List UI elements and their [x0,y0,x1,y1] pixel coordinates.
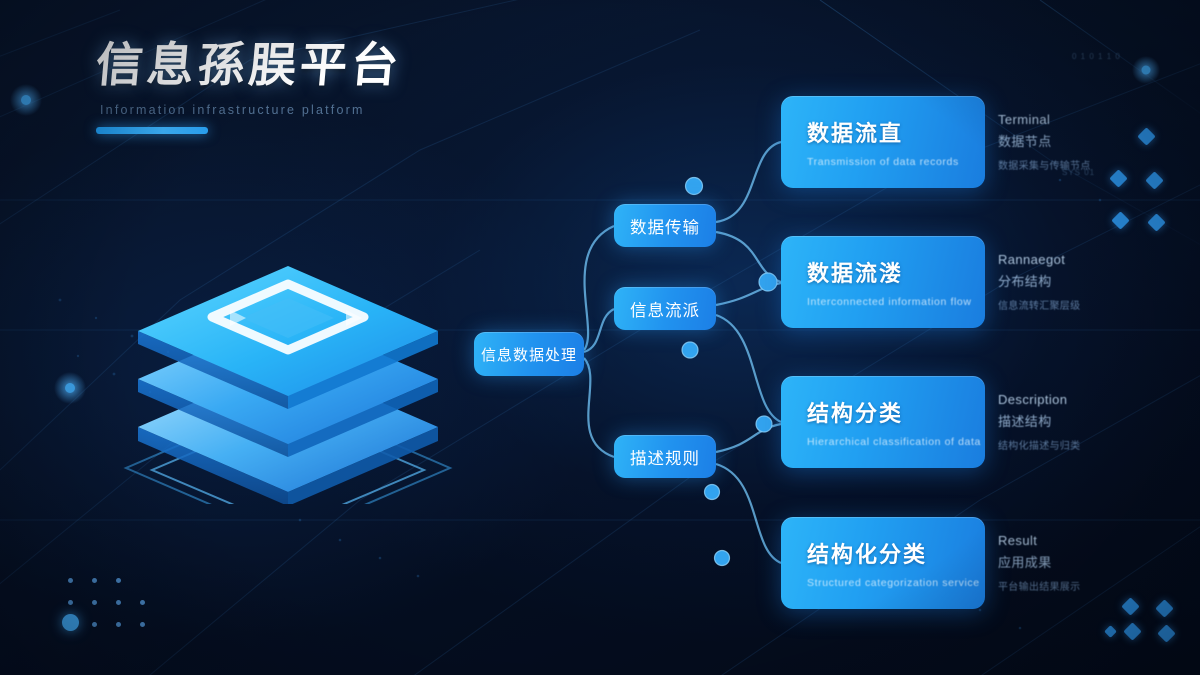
card-subtitle: Hierarchical classification of data [807,436,985,448]
page-title: 信息孫脵平台 [94,42,404,89]
slide-canvas: 信息孫脵平台 Information infrastructure platfo… [0,0,1200,675]
isometric-layer-stack [118,222,458,504]
card-annotation-2: Rannaegot 分布结构 信息流转汇聚层级 [998,252,1126,312]
page-subtitle: Information infrastructure platform [100,103,402,117]
diamond-icon [1104,625,1117,638]
mindmap-branch-node-2[interactable]: 信息流派 [614,287,716,330]
card-title: 结构化分类 [807,537,985,569]
annotation-line-2: 分布结构 [998,271,1126,290]
annotation-line-1: Rannaegot [998,252,1126,267]
annotation-line-3: 平台输出结果展示 [998,578,1126,593]
card-annotation-4: Result 应用成果 平台输出结果展示 [998,533,1126,593]
feature-card-2[interactable]: 数据流溇 Interconnected information flow [781,236,985,328]
card-subtitle: Interconnected information flow [807,296,985,308]
connector-dot [682,342,698,358]
annotation-line-1: Result [998,533,1126,548]
annotation-line-3: 结构化描述与归类 [998,437,1126,452]
diamond-icon [1109,169,1127,187]
connector-dot [686,178,703,195]
diamond-icon [1157,624,1175,642]
diamond-icon [1147,213,1165,231]
feature-card-4[interactable]: 结构化分类 Structured categorization service [781,517,985,609]
card-title: 数据流溇 [807,256,985,288]
diamond-icon [1121,597,1139,615]
connector-dot [759,273,777,291]
feature-card-1[interactable]: 数据流直 Transmission of data records [781,96,985,188]
annotation-line-2: 描述结构 [998,411,1126,430]
card-subtitle: Transmission of data records [807,156,985,168]
annotation-line-3: 信息流转汇聚层级 [998,297,1126,312]
connector-dot [756,416,772,432]
diamond-icon [1111,211,1129,229]
title-underline [96,127,208,134]
mindmap-branch-node-3[interactable]: 描述规则 [614,435,716,478]
annotation-line-2: 数据节点 [998,131,1126,150]
card-annotation-3: Description 描述结构 结构化描述与归类 [998,392,1126,452]
corner-note-top-right: 0 1 0 1 1 0 [1072,52,1121,61]
dot-grid-accent [62,614,79,631]
mindmap-branch-node-1[interactable]: 数据传输 [614,204,716,247]
diamond-icon [1145,171,1163,189]
title-block: 信息孫脵平台 Information infrastructure platfo… [96,42,402,134]
annotation-line-2: 应用成果 [998,552,1126,571]
card-subtitle: Structured categorization service [807,577,985,589]
diamond-icon [1123,622,1141,640]
corner-note-side: SYS 01 [1062,168,1095,177]
mindmap-root-node[interactable]: 信息数据处理 [474,332,584,376]
feature-card-3[interactable]: 结构分类 Hierarchical classification of data [781,376,985,468]
card-title: 数据流直 [807,116,985,148]
annotation-line-1: Terminal [998,112,1126,127]
card-title: 结构分类 [807,396,985,428]
connector-dot [715,551,730,566]
annotation-line-1: Description [998,392,1126,407]
connector-dot [705,485,720,500]
diamond-icon [1137,127,1155,145]
card-annotation-1: Terminal 数据节点 数据采集与传输节点 [998,112,1126,172]
diamond-icon [1155,599,1173,617]
